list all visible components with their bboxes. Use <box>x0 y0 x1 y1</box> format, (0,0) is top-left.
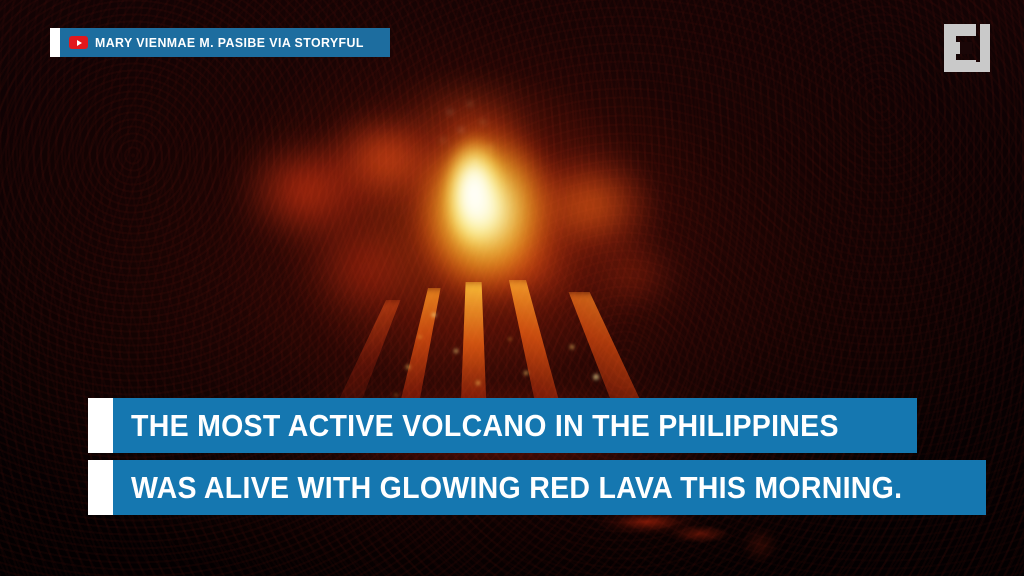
credit-accent-bar <box>50 28 60 57</box>
play-triangle-icon <box>77 40 82 46</box>
caption-text-1: THE MOST ACTIVE VOLCANO IN THE PHILIPPIN… <box>131 410 839 441</box>
source-credit-bar: MARY VIENMAE M. PASIBE VIA STORYFUL <box>50 28 390 57</box>
caption-text-2: WAS ALIVE WITH GLOWING RED LAVA THIS MOR… <box>131 472 902 503</box>
youtube-play-icon <box>69 36 88 49</box>
caption-body-2: WAS ALIVE WITH GLOWING RED LAVA THIS MOR… <box>113 460 986 515</box>
credit-text: MARY VIENMAE M. PASIBE VIA STORYFUL <box>95 35 364 50</box>
video-frame: MARY VIENMAE M. PASIBE VIA STORYFUL THE … <box>0 0 1024 576</box>
caption-line-1: THE MOST ACTIVE VOLCANO IN THE PHILIPPIN… <box>88 398 917 453</box>
caption-body-1: THE MOST ACTIVE VOLCANO IN THE PHILIPPIN… <box>113 398 917 453</box>
credit-bar-body: MARY VIENMAE M. PASIBE VIA STORYFUL <box>60 28 390 57</box>
caption-accent-bar-1 <box>88 398 113 453</box>
caption-accent-bar-2 <box>88 460 113 515</box>
ej-monogram-logo <box>940 20 992 76</box>
caption-line-2: WAS ALIVE WITH GLOWING RED LAVA THIS MOR… <box>88 460 986 515</box>
